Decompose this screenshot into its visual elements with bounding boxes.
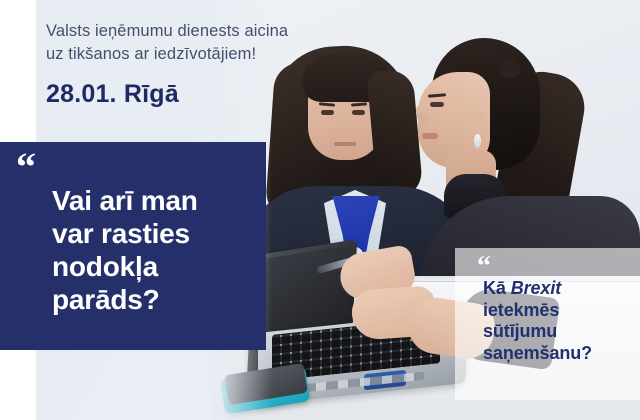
quote-secondary-line-3: sūtījumu xyxy=(483,321,557,341)
quote-primary-line-4: parāds? xyxy=(52,284,160,315)
quote-secondary-line-1-prefix: Kā xyxy=(483,278,511,298)
quote-card-primary: “ Vai arī man var rasties nodokļa parāds… xyxy=(0,142,266,350)
headline-line-2: uz tikšanos ar iedzīvotājiem! xyxy=(46,43,346,66)
quote-secondary-line-2: ietekmēs xyxy=(483,300,559,320)
event-date-location: 28.01. Rīgā xyxy=(46,80,179,109)
woman-right-earring xyxy=(474,134,481,148)
woman-left-eye-right xyxy=(352,110,365,115)
headline: Valsts ieņēmumu dienests aicina uz tikša… xyxy=(46,20,346,66)
quote-primary-line-3: nodokļa xyxy=(52,251,158,282)
woman-right-eye xyxy=(430,102,444,107)
woman-right-ear xyxy=(470,112,486,134)
quote-primary-text: Vai arī man var rasties nodokļa parāds? xyxy=(52,184,252,316)
quote-secondary-emphasis-brexit: Brexit xyxy=(511,278,561,298)
quote-mark-icon-secondary: “ xyxy=(477,256,630,278)
quote-secondary-line-4: saņemšanu? xyxy=(483,343,592,363)
quote-card-secondary: “ Kā Brexit ietekmēs sūtījumu saņemšanu? xyxy=(455,248,640,400)
headline-line-1: Valsts ieņēmumu dienests aicina xyxy=(46,20,346,43)
woman-right-nose xyxy=(416,104,430,122)
woman-left-mouth xyxy=(334,142,356,146)
poster: Valsts ieņēmumu dienests aicina uz tikša… xyxy=(0,0,640,420)
woman-right-hair-tie xyxy=(500,60,520,78)
woman-left-eye-left xyxy=(321,110,334,115)
quote-primary-line-2: var rasties xyxy=(52,218,190,249)
quote-secondary-text: Kā Brexit ietekmēs sūtījumu saņemšanu? xyxy=(483,278,630,364)
woman-right-lips xyxy=(422,133,438,139)
quote-mark-icon: “ xyxy=(16,152,252,182)
quote-primary-line-1: Vai arī man xyxy=(52,185,198,216)
